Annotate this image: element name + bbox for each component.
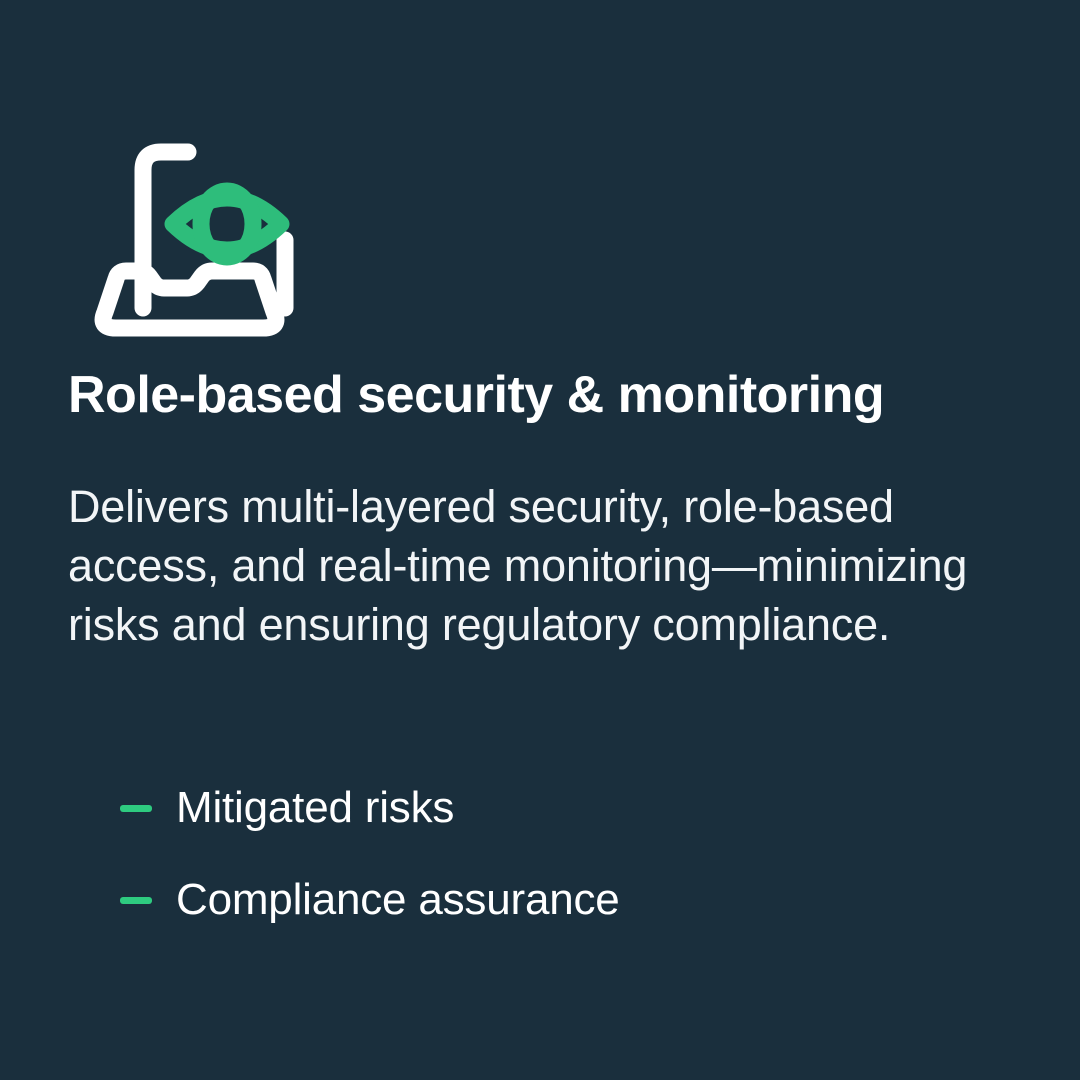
eye-outline-path bbox=[173, 198, 281, 250]
dash-marker-icon bbox=[120, 897, 152, 904]
bullet-label: Compliance assurance bbox=[176, 878, 620, 922]
list-item: Compliance assurance bbox=[120, 854, 1000, 946]
list-item: Mitigated risks bbox=[120, 762, 1000, 854]
feature-card: Role-based security & monitoring Deliver… bbox=[0, 0, 1080, 1080]
bullet-label: Mitigated risks bbox=[176, 786, 454, 830]
feature-bullet-list: Mitigated risks Compliance assurance bbox=[120, 762, 1000, 946]
card-title: Role-based security & monitoring bbox=[68, 366, 1008, 424]
laptop-eye-monitoring-icon bbox=[60, 128, 320, 338]
dash-marker-icon bbox=[120, 805, 152, 812]
card-description: Delivers multi-layered security, role-ba… bbox=[68, 478, 968, 655]
laptop-base-path bbox=[103, 271, 276, 328]
laptop-eye-icon-svg bbox=[60, 128, 320, 338]
